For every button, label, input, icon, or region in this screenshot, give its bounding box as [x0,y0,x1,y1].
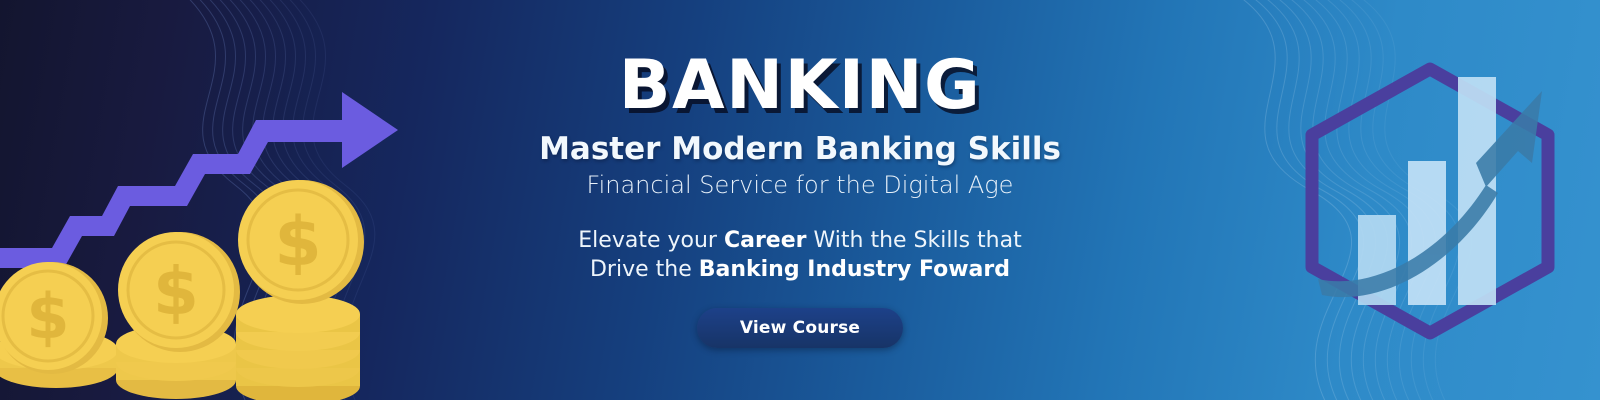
coin-dollar-symbol: $ [153,253,199,330]
coin-stack-medium: $ [116,232,240,399]
growth-arrow-and-coins-illustration: $ $ $ [0,20,430,400]
body-line2-prefix: Drive the [590,257,699,282]
bar-chart-icon [1358,77,1496,305]
banner-subheading: Master Modern Banking Skills [539,132,1061,166]
coin-stack-short: $ [0,262,118,388]
hexagon-growth-chart-illustration [1280,55,1580,345]
coin-stack-tall: $ [236,180,364,400]
banner-tagline: Financial Service for the Digital Age [587,172,1014,200]
page-title: BANKING [619,52,982,120]
banner-text-content: BANKING Master Modern Banking Skills Fin… [430,0,1170,400]
banking-promo-banner: $ $ $ [0,0,1600,400]
body-line1-suffix: With the Skills that [807,228,1022,253]
body-line2-emphasis: Banking Industry Foward [699,257,1010,282]
view-course-button[interactable]: View Course [697,308,903,348]
coin-dollar-symbol: $ [274,203,321,282]
coin-dollar-symbol: $ [26,280,69,353]
banner-body-copy: Elevate your Career With the Skills that… [578,226,1021,284]
body-line1-prefix: Elevate your [578,228,724,253]
body-line1-emphasis: Career [724,228,807,253]
